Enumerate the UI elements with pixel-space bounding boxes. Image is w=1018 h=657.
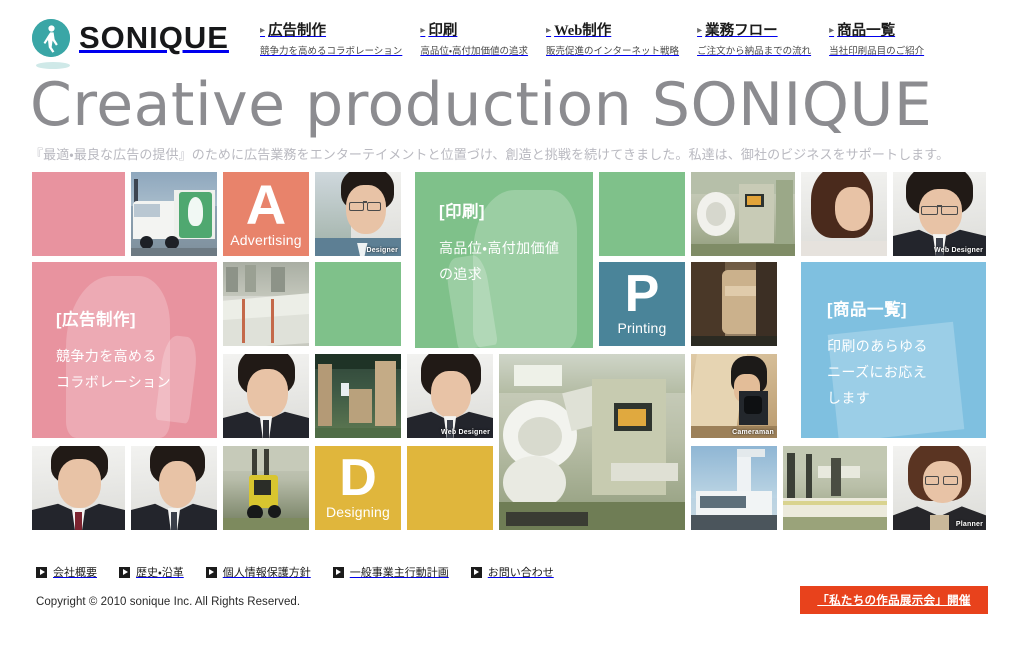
photo-caption: Planner <box>956 521 983 528</box>
photo-tile-cameraman[interactable]: Cameraman <box>691 354 777 438</box>
chevron-right-icon: ▸ <box>697 25 702 36</box>
nav-title-text: Web制作 <box>554 23 611 39</box>
panel-line-3: します <box>827 385 986 411</box>
nav-title-text: 印刷 <box>428 23 457 39</box>
warehouse-photo <box>315 354 401 438</box>
letter-tile-designing[interactable]: D Designing <box>315 446 401 530</box>
nav-item-workflow[interactable]: ▸業務フロー ご注文から納品までの流れ <box>697 19 829 57</box>
copyright-text: Copyright © 2010 sonique Inc. All Rights… <box>36 596 300 608</box>
letter-tile-caption: Printing <box>617 320 666 336</box>
photo-caption: Cameraman <box>732 429 774 436</box>
paper-roll-photo <box>691 262 777 346</box>
exhibition-cta-button[interactable]: 「私たちの作品展示会」開催 <box>800 586 988 614</box>
paper-stack-photo <box>223 262 309 346</box>
nav-item-web[interactable]: ▸Web制作 販売促進のインターネット戦略 <box>546 19 697 57</box>
site-header: SONIQUE ▸広告制作 競争力を高めるコラボレーション ▸印刷 高品位・高付… <box>0 0 1018 76</box>
nav-subtitle: 競争力を高めるコラボレーション <box>260 43 402 57</box>
letter-d: D <box>339 456 377 502</box>
nav-title: ▸印刷 <box>420 19 528 40</box>
play-square-icon <box>206 567 217 578</box>
nav-item-products[interactable]: ▸商品一覧 当社印刷品目のご紹介 <box>829 19 924 57</box>
designer-photo <box>315 172 401 256</box>
chevron-right-icon: ▸ <box>420 25 425 36</box>
nav-title: ▸業務フロー <box>697 19 811 40</box>
nav-title: ▸商品一覧 <box>829 19 924 40</box>
man-photo-2 <box>131 446 217 530</box>
panel-line-1: 高品位・高付加価値 <box>439 235 593 261</box>
woman-photo <box>801 172 887 256</box>
panel-advertising-text: [広告制作] 競争力を高める コラボレーション <box>56 306 217 395</box>
photo-tile-printing-press-2[interactable] <box>783 446 887 530</box>
footer-link-company-profile[interactable]: 会社概要 <box>36 564 97 580</box>
walking-person-circle-icon <box>32 19 70 57</box>
nav-subtitle: 高品位・高付加価値の追求 <box>420 43 528 57</box>
panel-heading: [商品一覧] <box>827 296 986 320</box>
planner-photo <box>893 446 986 530</box>
swatch-tile-green-mid[interactable] <box>315 262 401 346</box>
photo-tile-planner[interactable]: Planner <box>893 446 986 530</box>
photo-tile-designer-portrait[interactable]: Designer <box>315 172 401 256</box>
photo-tile-woman-portrait-1[interactable] <box>801 172 887 256</box>
footer-link-list: 会社概要 歴史・沿革 個人情報保護方針 一般事業主行動計画 お問い合わせ <box>36 564 576 580</box>
footer-link-privacy-policy[interactable]: 個人情報保護方針 <box>206 564 311 580</box>
nav-subtitle: 販売促進のインターネット戦略 <box>546 43 679 57</box>
panel-products-text: [商品一覧] 印刷のあらゆる ニーズにお応え します <box>827 296 986 411</box>
nav-title-text: 広告制作 <box>268 23 326 39</box>
letter-tile-printing[interactable]: P Printing <box>599 262 685 346</box>
photo-tile-man-portrait-2[interactable] <box>131 446 217 530</box>
letter-tile-advertising[interactable]: A Advertising <box>223 172 309 256</box>
photo-caption: Web Designer <box>934 247 983 254</box>
photo-tile-large-printing-machine[interactable] <box>499 354 685 530</box>
main-navigation: ▸広告制作 競争力を高めるコラボレーション ▸印刷 高品位・高付加価値の追求 ▸… <box>242 19 1018 57</box>
panel-line-2: ニーズにお応え <box>827 359 986 385</box>
letter-a: A <box>246 180 286 229</box>
chevron-right-icon: ▸ <box>546 25 551 36</box>
footer-link-label: 会社概要 <box>53 564 97 580</box>
panel-printing-text: [印刷] 高品位・高付加価値 の追求 <box>439 198 593 287</box>
nav-subtitle: ご注文から納品までの流れ <box>697 43 811 57</box>
letter-p: P <box>625 272 660 318</box>
panel-advertising[interactable]: [広告制作] 競争力を高める コラボレーション <box>32 262 217 438</box>
printing-press-photo-2 <box>783 446 887 530</box>
nav-subtitle: 当社印刷品目のご紹介 <box>829 43 924 57</box>
building-photo <box>691 446 777 530</box>
large-machine-photo <box>499 354 685 530</box>
brand-logo[interactable]: SONIQUE <box>32 19 242 57</box>
photo-tile-forklift[interactable] <box>223 446 309 530</box>
homepage: SONIQUE ▸広告制作 競争力を高めるコラボレーション ▸印刷 高品位・高付… <box>0 0 1018 657</box>
panel-printing[interactable]: [印刷] 高品位・高付加価値 の追求 <box>415 172 593 348</box>
employee-photo <box>223 354 309 438</box>
swatch-tile-gold[interactable] <box>407 446 493 530</box>
nav-title-text: 業務フロー <box>705 23 778 39</box>
panel-line-2: の追求 <box>439 261 593 287</box>
cameraman-photo <box>691 354 777 438</box>
footer-link-contact[interactable]: お問い合わせ <box>471 564 554 580</box>
photo-caption: Designer <box>366 247 398 254</box>
man-photo-1 <box>32 446 125 530</box>
web-designer-photo <box>893 172 986 256</box>
nav-title: ▸Web制作 <box>546 19 679 40</box>
photo-tile-web-designer-2[interactable]: Web Designer <box>407 354 493 438</box>
letter-tile-caption: Advertising <box>230 232 301 248</box>
swatch-tile-pink[interactable] <box>32 172 125 256</box>
panel-heading: [印刷] <box>439 198 593 222</box>
photo-tile-paper-roll-machine[interactable] <box>691 262 777 346</box>
panel-products[interactable]: [商品一覧] 印刷のあらゆる ニーズにお応え します <box>801 262 986 438</box>
photo-tile-delivery-truck[interactable] <box>131 172 217 256</box>
footer-link-action-plan[interactable]: 一般事業主行動計画 <box>333 564 449 580</box>
panel-line-1: 印刷のあらゆる <box>827 333 986 359</box>
photo-tile-paper-stacks[interactable] <box>223 262 309 346</box>
printing-press-photo <box>691 172 795 256</box>
truck-photo <box>131 172 217 256</box>
brand-name: SONIQUE <box>79 20 229 56</box>
panel-heading: [広告制作] <box>56 306 217 330</box>
letter-tile-caption: Designing <box>326 504 390 520</box>
image-mosaic-grid: A Advertising Designer [印刷] 高品位・高付加価値 <box>32 172 986 546</box>
nav-title: ▸広告制作 <box>260 19 402 40</box>
swatch-tile-green-top[interactable] <box>599 172 685 256</box>
page-title: Creative production SONIQUE <box>30 72 932 138</box>
panel-line-2: コラボレーション <box>56 369 217 395</box>
forklift-photo <box>223 446 309 530</box>
photo-tile-web-designer-1[interactable]: Web Designer <box>893 172 986 256</box>
photo-tile-company-building[interactable] <box>691 446 777 530</box>
photo-tile-warehouse-rolls[interactable] <box>315 354 401 438</box>
chevron-right-icon: ▸ <box>260 25 265 36</box>
hero-subtitle: 『最適・最良な広告の提供』のために広告業務をエンターテイメントと位置づけ、創造と… <box>30 144 1000 163</box>
photo-caption: Web Designer <box>441 429 490 436</box>
play-square-icon <box>333 567 344 578</box>
nav-item-printing[interactable]: ▸印刷 高品位・高付加価値の追求 <box>420 19 546 57</box>
play-square-icon <box>471 567 482 578</box>
panel-line-1: 競争力を高める <box>56 343 217 369</box>
photo-tile-printing-press-1[interactable] <box>691 172 795 256</box>
play-square-icon <box>119 567 130 578</box>
photo-tile-man-portrait-1[interactable] <box>32 446 125 530</box>
web-designer-photo-2 <box>407 354 493 438</box>
photo-tile-smiling-employee[interactable] <box>223 354 309 438</box>
chevron-right-icon: ▸ <box>829 25 834 36</box>
nav-title-text: 商品一覧 <box>837 23 895 39</box>
footer-link-label: 個人情報保護方針 <box>223 564 311 580</box>
footer-link-label: お問い合わせ <box>488 564 554 580</box>
play-square-icon <box>36 567 47 578</box>
footer-link-label: 歴史・沿革 <box>136 564 184 580</box>
nav-item-advertising[interactable]: ▸広告制作 競争力を高めるコラボレーション <box>260 19 420 57</box>
footer-link-history[interactable]: 歴史・沿革 <box>119 564 184 580</box>
footer-link-label: 一般事業主行動計画 <box>350 564 449 580</box>
logo-shadow-ellipse <box>36 62 70 69</box>
